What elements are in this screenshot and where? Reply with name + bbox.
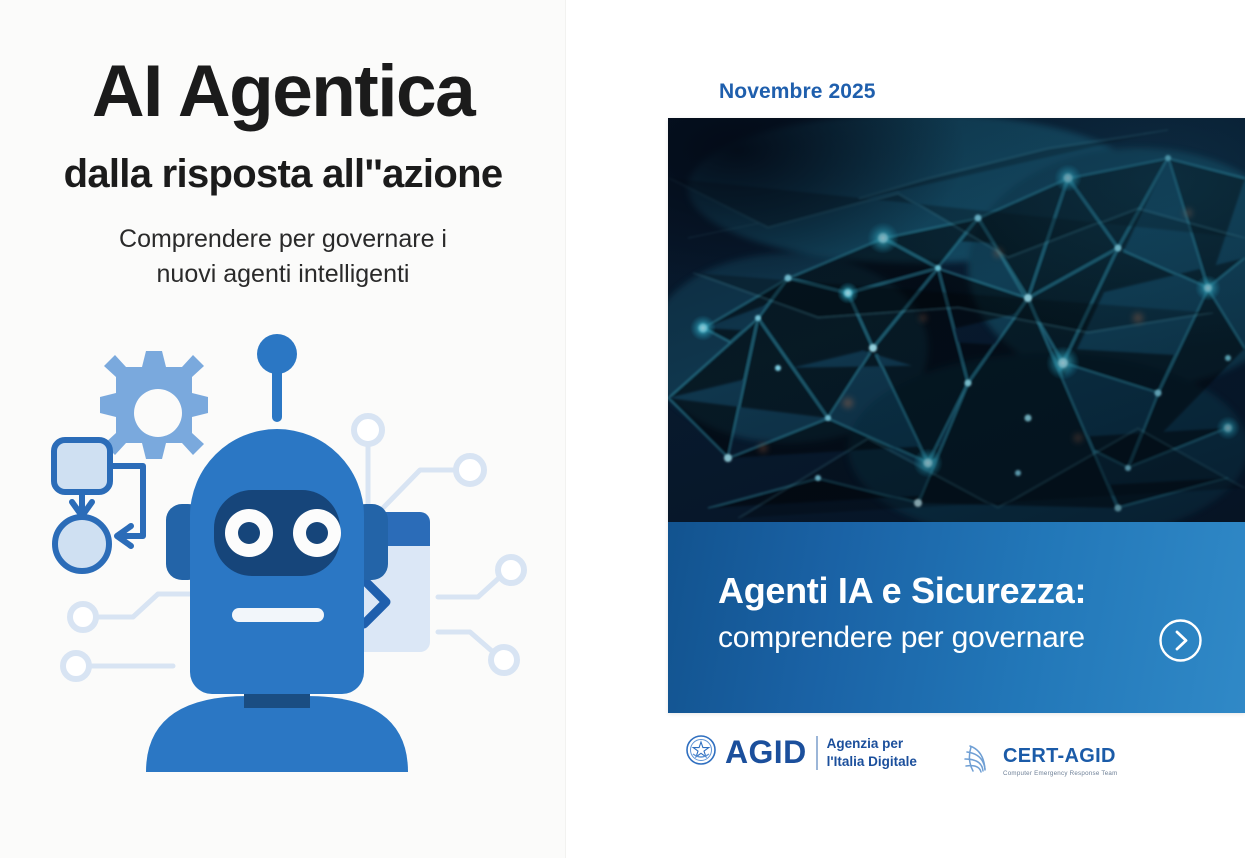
cover-title-band: Agenti IA e Sicurezza: comprendere per g… — [668, 522, 1245, 713]
cover-title: Agenti IA e Sicurezza: — [718, 570, 1086, 612]
cover-subtitle: comprendere per governare — [718, 621, 1085, 655]
left-hero-panel: AI Agentica dalla risposta all''azione C… — [0, 0, 566, 858]
agid-logo: AGID Agenzia per l'Italia Digitale — [686, 734, 917, 771]
logo-row: AGID Agenzia per l'Italia Digitale — [668, 730, 1245, 800]
agid-divider — [816, 736, 818, 770]
page-title: AI Agentica — [0, 55, 566, 129]
cert-text-block: CERT-AGID Computer Emergency Response Te… — [1003, 745, 1118, 777]
gear-shape — [100, 351, 208, 459]
agid-wordmark: AGID — [725, 734, 807, 771]
document-date: Novembre 2025 — [719, 80, 876, 104]
page-root: AI Agentica dalla risposta all''azione C… — [0, 0, 1245, 858]
network-mesh-image — [668, 118, 1245, 522]
page-description-line1: Comprendere per governare i — [119, 225, 447, 253]
page-description-line2: nuovi agenti intelligenti — [157, 260, 410, 288]
cert-agid-logo: CERT-AGID Computer Emergency Response Te… — [958, 740, 1118, 781]
agid-tagline-line2: l'Italia Digitale — [827, 754, 917, 769]
flowchart-shape — [54, 440, 143, 571]
right-document-panel: Novembre 2025 — [566, 0, 1245, 858]
cert-wordmark: CERT-AGID — [1003, 745, 1118, 768]
globe-mesh-icon — [958, 740, 994, 781]
agid-tagline: Agenzia per l'Italia Digitale — [827, 735, 917, 771]
italian-republic-emblem — [686, 735, 716, 770]
document-cover-card[interactable]: Agenti IA e Sicurezza: comprendere per g… — [668, 118, 1245, 713]
agid-tagline-line1: Agenzia per — [827, 736, 904, 751]
chevron-right-icon[interactable] — [1158, 618, 1203, 663]
cert-tagline: Computer Emergency Response Team — [1003, 770, 1118, 777]
page-description: Comprendere per governare i nuovi agenti… — [0, 222, 566, 291]
page-subtitle: dalla risposta all''azione — [0, 152, 566, 196]
robot-ai-illustration — [38, 312, 538, 772]
